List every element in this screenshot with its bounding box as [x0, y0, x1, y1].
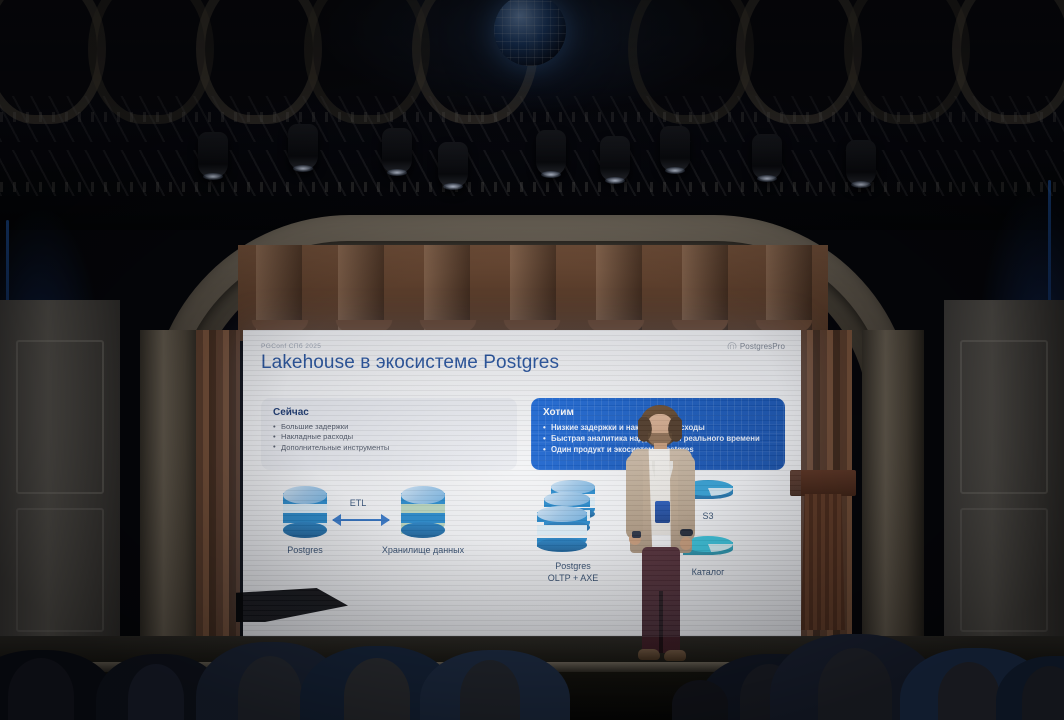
list-item: Накладные расходы — [273, 432, 505, 442]
database-stack-icon — [537, 480, 609, 556]
ceiling — [0, 0, 1064, 230]
lighting-truss — [0, 112, 1064, 122]
database-cylinder-icon — [283, 486, 327, 538]
mirror-ball-icon — [494, 0, 566, 66]
venue-backdrop: PGConf СПб 2025 PostgresPro Lakehouse в … — [0, 0, 1064, 720]
card-now: Сейчас Большие задержки Накладные расход… — [261, 398, 517, 470]
card-now-bullets: Большие задержки Накладные расходы Допол… — [273, 422, 505, 453]
slide-title: Lakehouse в экосистеме Postgres — [261, 352, 559, 374]
database-cylinder-icon — [401, 486, 445, 538]
stage-light-icon — [752, 134, 782, 180]
stage-light-icon — [660, 126, 690, 172]
comparison-cards: Сейчас Большие задержки Накладные расход… — [261, 398, 785, 470]
audience — [0, 590, 1064, 720]
stage-light-icon — [600, 136, 630, 182]
brand-name: PostgresPro — [740, 342, 785, 351]
speaker-sleeve-left — [626, 455, 643, 539]
speaker-hand-right — [680, 537, 692, 550]
double-arrow-icon — [333, 514, 389, 526]
presentation-clicker — [632, 531, 641, 538]
etl-label: ETL — [319, 498, 397, 508]
stage-light-icon — [438, 142, 468, 188]
stage-light-icon — [288, 124, 318, 170]
stage-light-icon — [536, 130, 566, 176]
lighting-truss — [0, 150, 1064, 196]
speaker-watch — [680, 529, 693, 536]
diagram-now-right-label: Хранилище данных — [348, 544, 498, 556]
speaker-badge — [655, 501, 670, 523]
list-item: Дополнительные инструменты — [273, 443, 505, 453]
slide-eyebrow: PGConf СПб 2025 — [261, 343, 321, 350]
stage-light-icon — [198, 132, 228, 178]
card-now-heading: Сейчас — [273, 407, 505, 418]
postgrespro-logo-icon — [727, 342, 737, 351]
stage-light-icon — [846, 140, 876, 186]
brand-lockup: PostgresPro — [727, 342, 785, 351]
stage-light-icon — [382, 128, 412, 174]
list-item: Большие задержки — [273, 422, 505, 432]
slide-header: PGConf СПб 2025 PostgresPro — [261, 340, 785, 352]
